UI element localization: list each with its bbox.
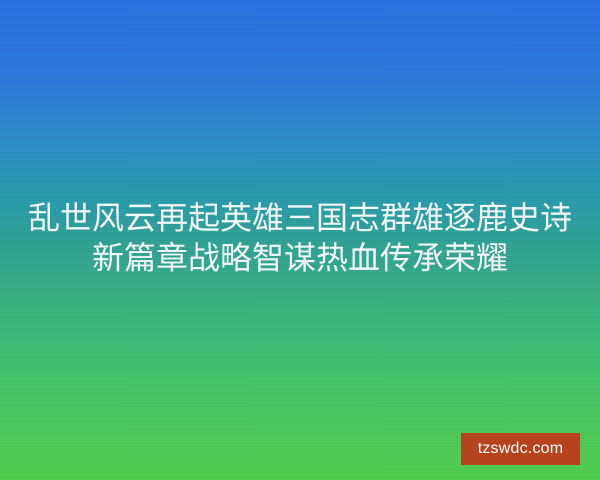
watermark-badge-label: tzswdc.com (478, 441, 564, 457)
banner-image: 乱世风云再起英雄三国志群雄逐鹿史诗新篇章战略智谋热血传承荣耀 tzswdc.co… (0, 0, 600, 480)
banner-headline: 乱世风云再起英雄三国志群雄逐鹿史诗新篇章战略智谋热血传承荣耀 (24, 198, 576, 278)
watermark-badge: tzswdc.com (461, 433, 580, 465)
